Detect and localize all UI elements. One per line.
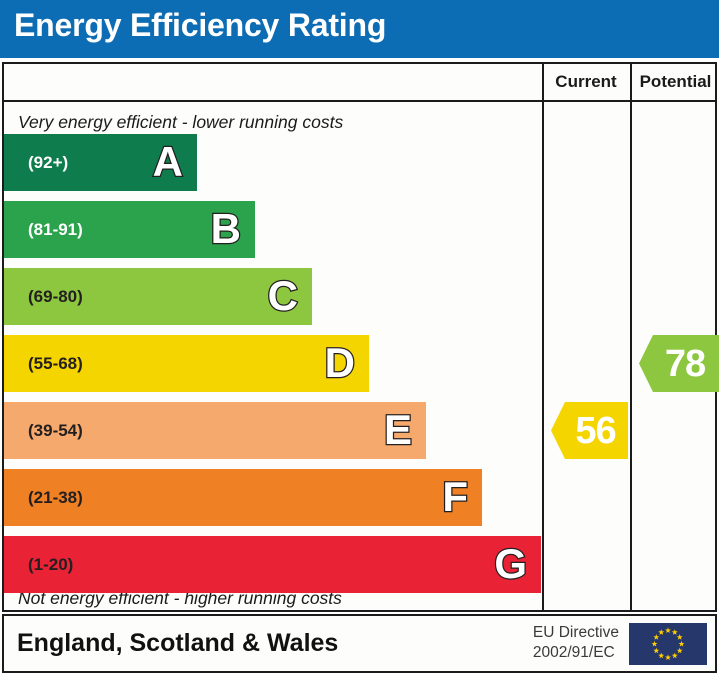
band-letter-c: C — [268, 275, 298, 317]
footer-directive-line1: EU Directive — [533, 623, 619, 644]
band-range-a: (92+) — [28, 153, 68, 173]
current-rating-value: 56 — [563, 412, 615, 450]
caption-efficient: Very energy efficient - lower running co… — [18, 112, 343, 133]
band-list: (92+) A (81-91) B (69-80) C (55-68) D (3… — [4, 134, 542, 584]
band-row-e: (39-54) E — [4, 402, 426, 459]
band-letter-f: F — [442, 476, 468, 518]
page-title: Energy Efficiency Rating — [14, 7, 386, 44]
band-letter-g: G — [494, 543, 527, 585]
band-letter-a: A — [153, 141, 183, 183]
column-divider-current — [542, 64, 544, 610]
footer-directive-line2: 2002/91/EC — [533, 644, 619, 665]
potential-rating-value: 78 — [653, 345, 705, 383]
band-letter-b: B — [211, 208, 241, 250]
column-header-potential: Potential — [632, 64, 719, 100]
column-divider-potential — [630, 64, 632, 610]
band-row-g: (1-20) G — [4, 536, 541, 593]
column-header-row: Current Potential — [4, 64, 715, 102]
band-row-b: (81-91) B — [4, 201, 255, 258]
footer-bar: England, Scotland & Wales EU Directive 2… — [2, 614, 717, 673]
potential-rating-badge: 78 — [639, 335, 719, 392]
rating-table: Current Potential Very energy efficient … — [2, 62, 717, 612]
footer-region-label: England, Scotland & Wales — [17, 628, 338, 657]
band-range-d: (55-68) — [28, 354, 83, 374]
band-range-c: (69-80) — [28, 287, 83, 307]
band-range-b: (81-91) — [28, 220, 83, 240]
band-letter-e: E — [384, 409, 412, 451]
footer-directive: EU Directive 2002/91/EC — [533, 623, 619, 665]
band-range-g: (1-20) — [28, 555, 73, 575]
column-header-current: Current — [542, 64, 630, 100]
energy-efficiency-rating-chart: Energy Efficiency Rating Current Potenti… — [0, 0, 719, 675]
band-row-d: (55-68) D — [4, 335, 369, 392]
eu-flag-icon — [629, 623, 707, 665]
chart-title-bar: Energy Efficiency Rating — [0, 0, 719, 58]
band-row-a: (92+) A — [4, 134, 197, 191]
band-letter-d: D — [325, 342, 355, 384]
band-row-c: (69-80) C — [4, 268, 312, 325]
current-rating-badge: 56 — [551, 402, 628, 459]
band-row-f: (21-38) F — [4, 469, 482, 526]
band-range-f: (21-38) — [28, 488, 83, 508]
band-range-e: (39-54) — [28, 421, 83, 441]
